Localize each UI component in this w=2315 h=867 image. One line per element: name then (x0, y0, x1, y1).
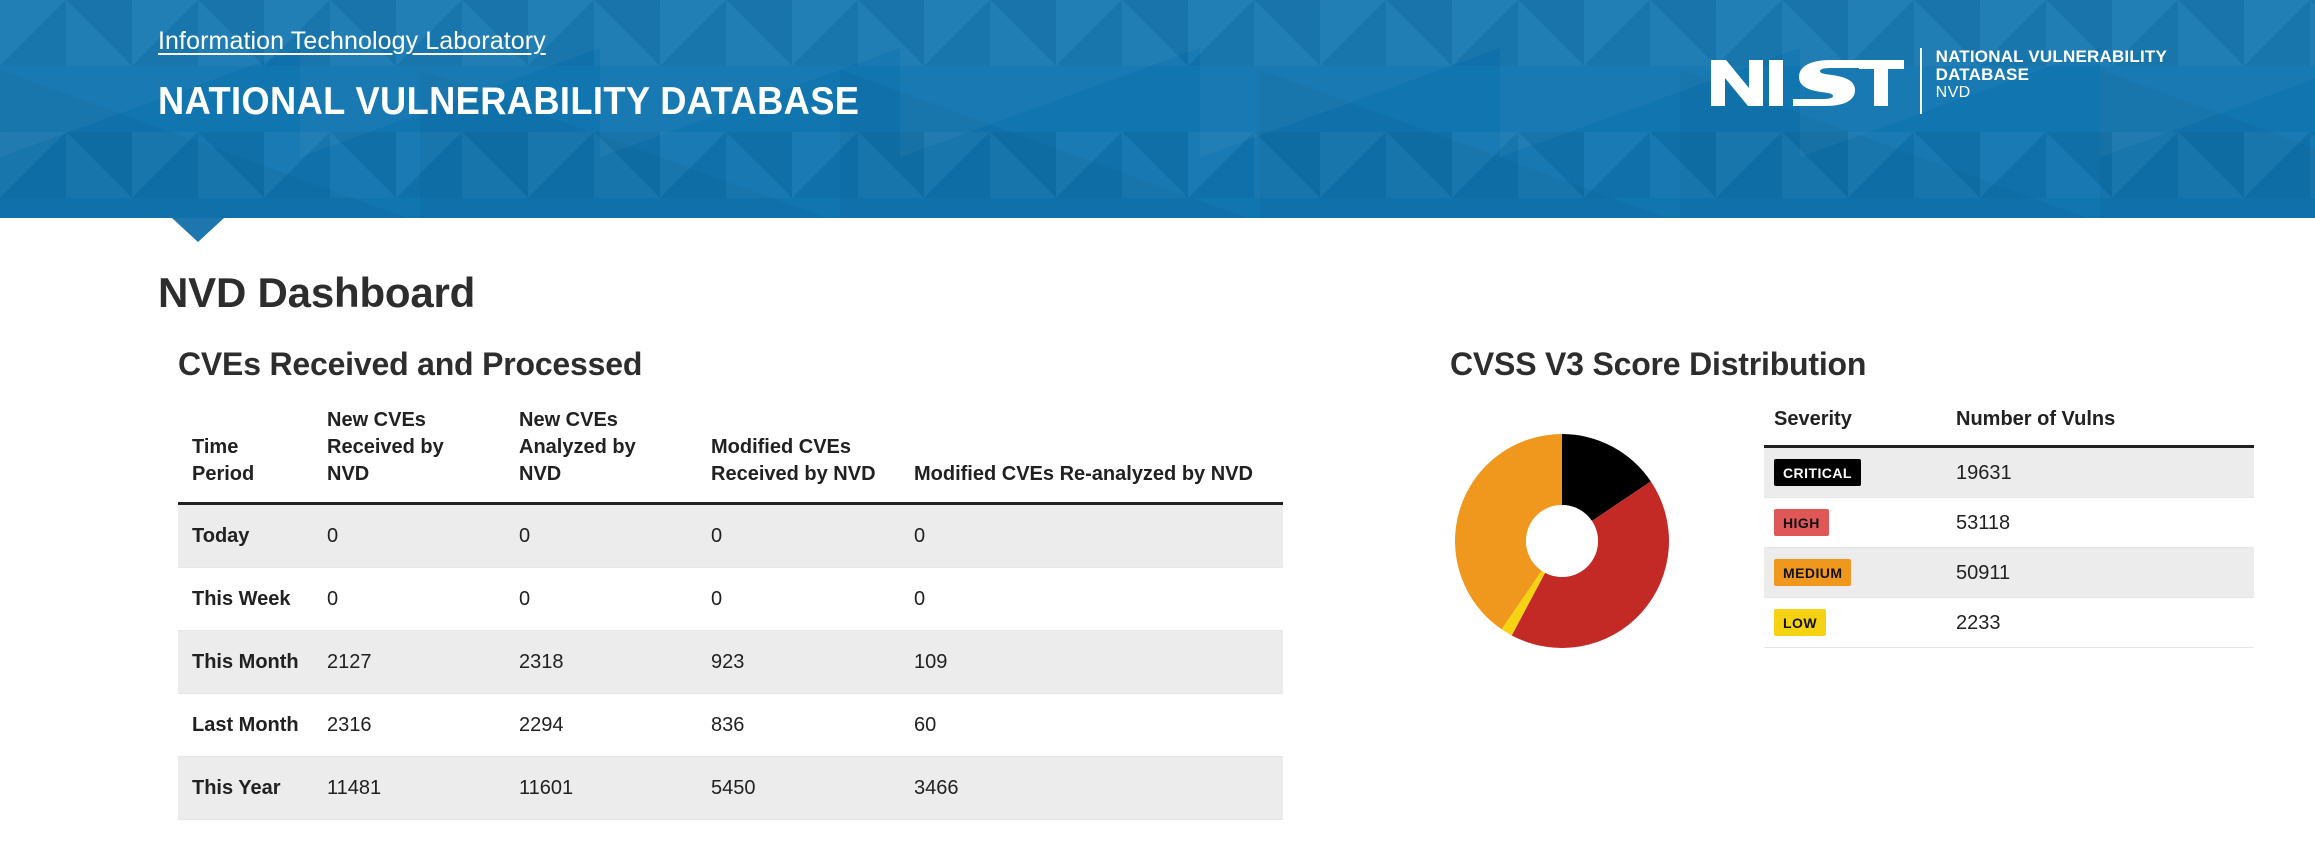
nist-logo-lockup[interactable]: NATIONAL VULNERABILITY DATABASE NVD (1709, 46, 2167, 114)
table-header-row: Time Period New CVEs Received by NVD New… (178, 407, 1283, 504)
column-header-modified-received: Modified CVEs Received by NVD (697, 407, 900, 504)
vuln-count-cell: 19631 (1946, 447, 2254, 498)
row-label: Today (178, 504, 313, 568)
cell-mod-received: 0 (697, 504, 900, 568)
cell-mod-received: 5450 (697, 757, 900, 820)
severity-table-wrap: Severity Number of Vulns CRITICAL 19631 (1764, 407, 2309, 648)
severity-cell: LOW (1764, 598, 1946, 648)
table-row: MEDIUM 50911 (1764, 548, 2254, 598)
table-row: LOW 2233 (1764, 598, 2254, 648)
vuln-count-cell: 50911 (1946, 548, 2254, 598)
column-header-new-received: New CVEs Received by NVD (313, 407, 505, 504)
donut-hole (1526, 505, 1598, 577)
status-badge-medium[interactable]: MEDIUM (1774, 559, 1851, 586)
page-title: NVD Dashboard (158, 269, 2315, 317)
row-label: This Week (178, 568, 313, 631)
table-row: CRITICAL 19631 (1764, 447, 2254, 498)
table-row: HIGH 53118 (1764, 498, 2254, 548)
logo-line-2: DATABASE (1936, 66, 2167, 84)
cves-received-processed-panel: CVEs Received and Processed Time Period … (178, 345, 1328, 820)
cell-new-received: 0 (313, 504, 505, 568)
severity-table-body: CRITICAL 19631 HIGH 53118 ME (1764, 447, 2254, 648)
logo-line-1: NATIONAL VULNERABILITY (1936, 48, 2167, 66)
cvss-donut-chart (1450, 407, 1750, 653)
dashboard-columns: CVEs Received and Processed Time Period … (0, 345, 2315, 820)
column-header-new-analyzed: New CVEs Analyzed by NVD (505, 407, 697, 504)
status-badge-low[interactable]: LOW (1774, 609, 1826, 636)
severity-table-header: Severity Number of Vulns (1764, 407, 2254, 447)
nist-logo-icon (1709, 46, 1904, 108)
status-badge-critical[interactable]: CRITICAL (1774, 459, 1861, 486)
table-row: This Week 0 0 0 0 (178, 568, 1283, 631)
cell-mod-received: 0 (697, 568, 900, 631)
row-label: Last Month (178, 694, 313, 757)
status-badge-high[interactable]: HIGH (1774, 509, 1829, 536)
severity-cell: MEDIUM (1764, 548, 1946, 598)
severity-distribution-table: Severity Number of Vulns CRITICAL 19631 (1764, 407, 2254, 648)
cell-mod-reanalyzed: 0 (900, 504, 1283, 568)
cell-mod-reanalyzed: 109 (900, 631, 1283, 694)
column-header-time-period: Time Period (178, 407, 313, 504)
cell-mod-received: 836 (697, 694, 900, 757)
information-technology-laboratory-link[interactable]: Information Technology Laboratory (158, 26, 546, 56)
cell-new-analyzed: 0 (505, 568, 697, 631)
cell-mod-received: 923 (697, 631, 900, 694)
vuln-count-cell: 53118 (1946, 498, 2254, 548)
table-row: This Year 11481 11601 5450 3466 (178, 757, 1283, 820)
row-label: This Month (178, 631, 313, 694)
cvss-content-row: Severity Number of Vulns CRITICAL 19631 (1478, 407, 2288, 653)
cell-new-analyzed: 0 (505, 504, 697, 568)
table-row: This Month 2127 2318 923 109 (178, 631, 1283, 694)
cell-new-received: 0 (313, 568, 505, 631)
cell-new-analyzed: 2294 (505, 694, 697, 757)
table-row: Last Month 2316 2294 836 60 (178, 694, 1283, 757)
logo-divider (1920, 48, 1922, 114)
cell-new-received: 2127 (313, 631, 505, 694)
cvss-score-distribution-panel: CVSS V3 Score Distribution (1328, 345, 2288, 820)
table-row: Today 0 0 0 0 (178, 504, 1283, 568)
cvss-section-title: CVSS V3 Score Distribution (1450, 345, 2288, 383)
vuln-count-cell: 2233 (1946, 598, 2254, 648)
site-header: Information Technology Laboratory NATION… (0, 0, 2315, 218)
cell-new-received: 2316 (313, 694, 505, 757)
header-notch-triangle-icon (172, 218, 224, 242)
cell-new-analyzed: 2318 (505, 631, 697, 694)
cve-table-header: Time Period New CVEs Received by NVD New… (178, 407, 1283, 504)
cve-section-title: CVEs Received and Processed (178, 345, 1328, 383)
severity-cell: CRITICAL (1764, 447, 1946, 498)
cve-stats-table: Time Period New CVEs Received by NVD New… (178, 407, 1283, 820)
logo-line-3: NVD (1936, 84, 2167, 102)
cve-table-body: Today 0 0 0 0 This Week 0 0 0 0 This Mon… (178, 504, 1283, 820)
severity-cell: HIGH (1764, 498, 1946, 548)
cell-mod-reanalyzed: 0 (900, 568, 1283, 631)
cell-mod-reanalyzed: 60 (900, 694, 1283, 757)
table-header-row: Severity Number of Vulns (1764, 407, 2254, 447)
nist-logo-subtitle: NATIONAL VULNERABILITY DATABASE NVD (1936, 46, 2167, 102)
cell-mod-reanalyzed: 3466 (900, 757, 1283, 820)
row-label: This Year (178, 757, 313, 820)
cell-new-received: 11481 (313, 757, 505, 820)
column-header-number-of-vulns: Number of Vulns (1946, 407, 2254, 447)
cell-new-analyzed: 11601 (505, 757, 697, 820)
column-header-severity: Severity (1764, 407, 1946, 447)
column-header-modified-reanalyzed: Modified CVEs Re-analyzed by NVD (900, 407, 1283, 504)
